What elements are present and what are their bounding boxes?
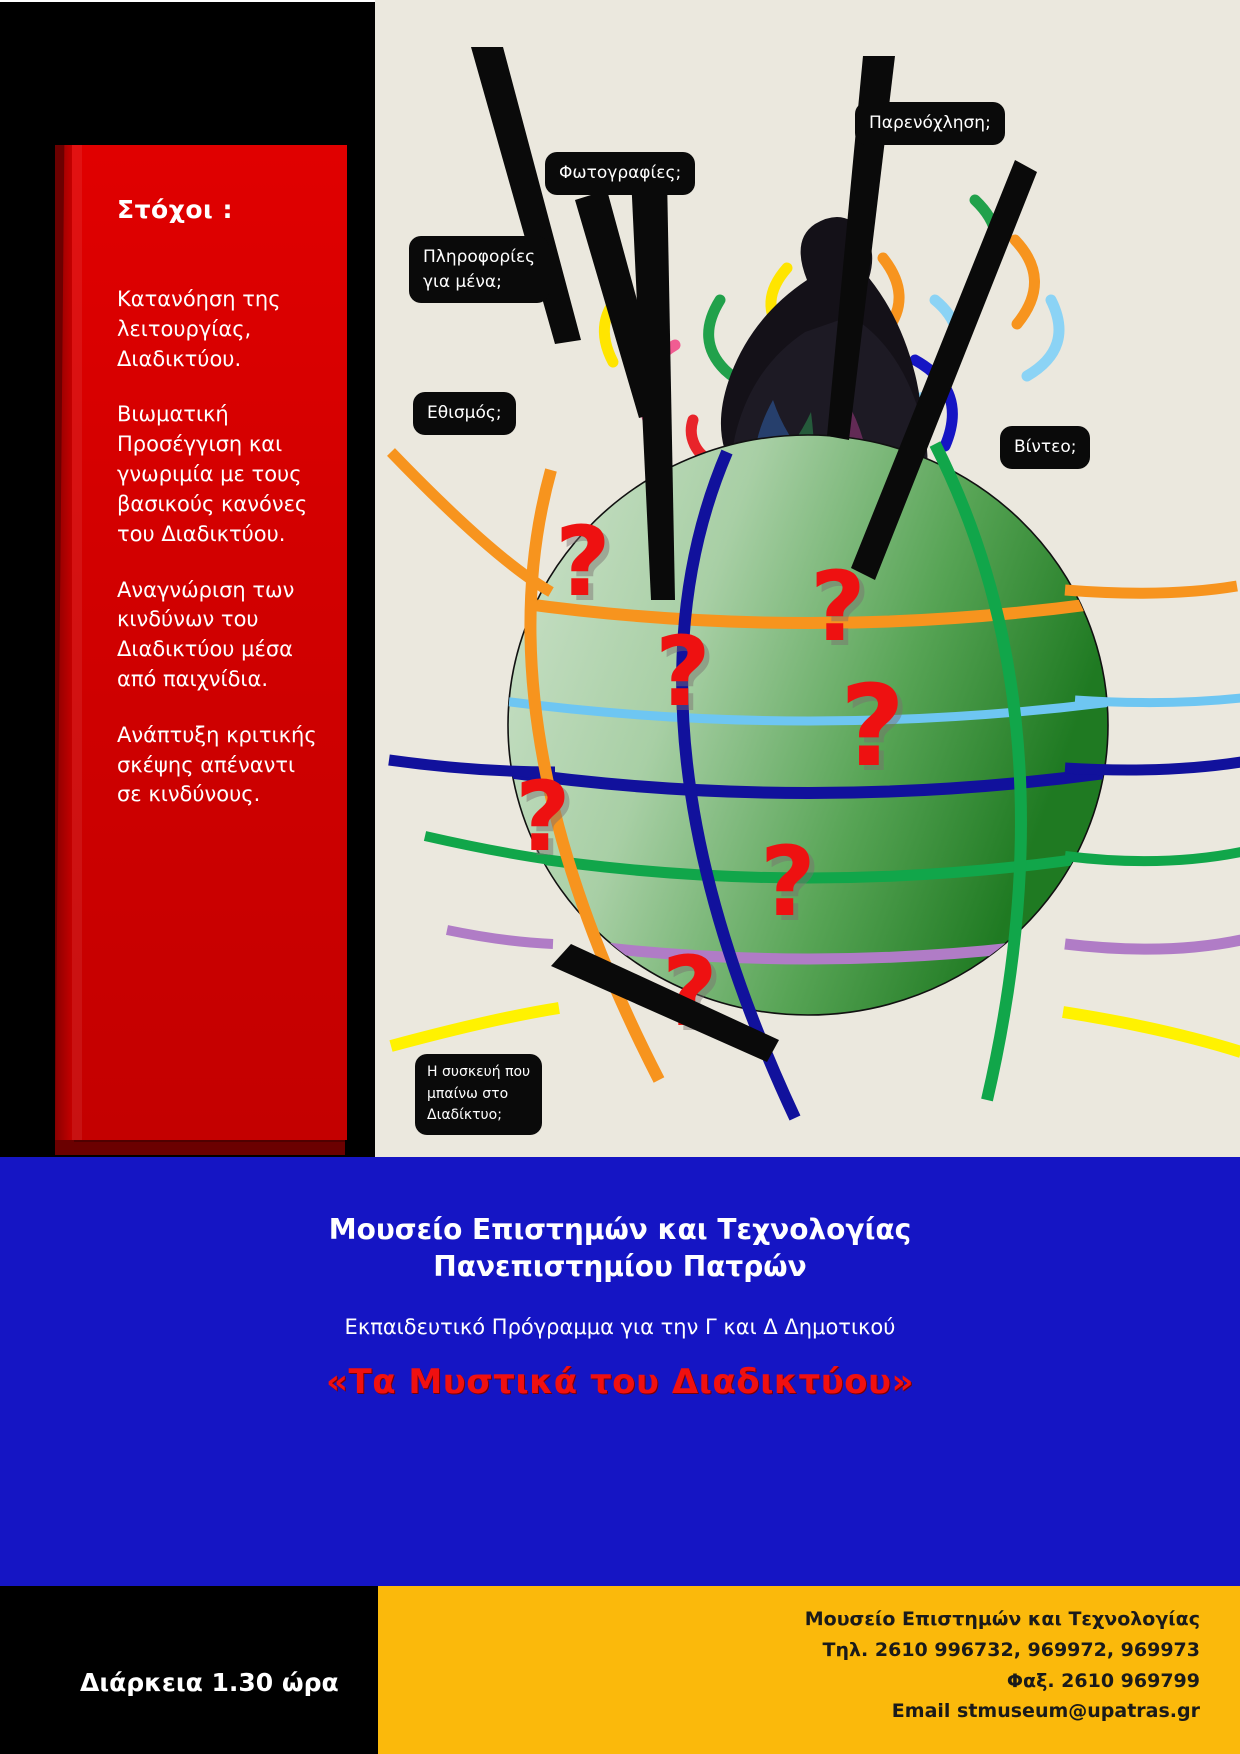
svg-text:?: ? — [555, 506, 611, 618]
museum-name-line2: Πανεπιστημίου Πατρών — [0, 1249, 1240, 1286]
svg-text:?: ? — [760, 826, 816, 938]
svg-text:?: ? — [515, 761, 571, 873]
bubble-photos[interactable]: Φωτογραφίες; — [545, 152, 695, 195]
objective-item-1: Κατανόηση της λειτουργίας, Διαδικτύου. — [117, 285, 322, 374]
program-subtitle: Εκπαιδευτικό Πρόγραμμα για την Γ και Δ Δ… — [0, 1315, 1240, 1339]
objectives-panel: Στόχοι : Κατανόηση της λειτουργίας, Διαδ… — [72, 145, 347, 1140]
objectives-title: Στόχοι : — [117, 195, 327, 224]
museum-banner: Μουσείο Επιστημών και Τεχνολογίας Πανεπι… — [0, 1157, 1240, 1586]
duration-label: Διάρκεια 1.30 ώρα — [80, 1668, 339, 1697]
program-title: «Τα Μυστικά του Διαδικτύου» — [0, 1362, 1240, 1402]
bubble-device[interactable]: Η συσκευή που μπαίνω στο Διαδίκτυο; — [415, 1054, 542, 1135]
contact-fax: Φαξ. 2610 969799 — [805, 1666, 1200, 1697]
museum-name: Μουσείο Επιστημών και Τεχνολογίας Πανεπι… — [0, 1212, 1240, 1286]
artwork-panel: ? ? ? ? ? ? ? ? ? ? ? ? ? ? — [375, 0, 1240, 1157]
objective-item-4: Ανάπτυξη κριτικής σκέψης απέναντι σε κιν… — [117, 721, 322, 810]
contact-phone: Τηλ. 2610 996732, 969972, 969973 — [805, 1635, 1200, 1666]
contact-lines: Μουσείο Επιστημών και Τεχνολογίας Τηλ. 2… — [805, 1604, 1200, 1727]
contact-email[interactable]: Email stmuseum@upatras.gr — [805, 1696, 1200, 1727]
contact-box: Μουσείο Επιστημών και Τεχνολογίας Τηλ. 2… — [378, 1586, 1240, 1754]
bubble-harassment[interactable]: Παρενόχληση; — [855, 102, 1005, 145]
contact-museum: Μουσείο Επιστημών και Τεχνολογίας — [805, 1604, 1200, 1635]
bubble-video[interactable]: Βίντεο; — [1000, 426, 1090, 469]
bubble-addiction[interactable]: Εθισμός; — [413, 392, 516, 435]
objective-item-3: Αναγνώριση των κινδύνων του Διαδικτύου μ… — [117, 576, 322, 695]
poster-root: Στόχοι : Κατανόηση της λειτουργίας, Διαδ… — [0, 0, 1240, 1754]
globe-illustration: ? ? ? ? ? ? ? ? ? ? ? ? ? ? — [375, 0, 1240, 1157]
svg-text:?: ? — [840, 662, 905, 792]
museum-name-line1: Μουσείο Επιστημών και Τεχνολογίας — [0, 1212, 1240, 1249]
objectives-panel-bevel — [72, 145, 82, 1140]
objective-item-2: Βιωματική Προσέγγιση και γνωριμία με του… — [117, 400, 322, 549]
objectives-list: Κατανόηση της λειτουργίας, Διαδικτύου. Β… — [117, 285, 322, 836]
bubble-info[interactable]: Πληροφορίες για μένα; — [409, 236, 549, 303]
svg-text:?: ? — [655, 616, 711, 728]
